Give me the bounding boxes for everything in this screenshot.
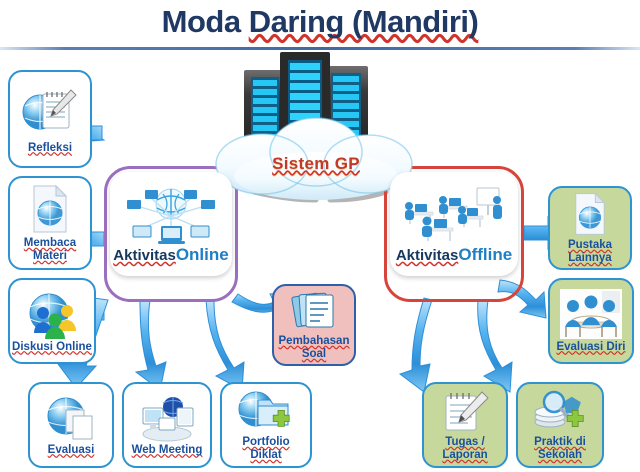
node-membaca-materi[interactable]: Membaca Materi [8,176,92,270]
page-title-squiggle: Daring (Mandiri) [249,4,479,39]
hub-online-label-primary: Aktivitas [113,247,176,264]
notepad-pencil-icon [440,388,490,434]
node-portfolio-diklat-label: Portfolio Diklat [242,436,289,462]
node-refleksi[interactable]: Refleksi [8,70,92,168]
node-evaluasi[interactable]: Evaluasi [28,382,114,468]
desk [422,217,453,242]
node-evaluasi-diri-label: Evaluasi Diri [556,341,625,354]
node-praktik-di-sekolah[interactable]: Praktik di Sekolah [516,382,604,468]
node-web-meeting[interactable]: Web Meeting [122,382,212,468]
hub-offline-label-primary: Aktivitas [396,247,459,264]
node-pustaka-lainnya[interactable]: Pustaka Lainnya [548,186,632,270]
diagram-canvas: Moda Daring (Mandiri) [0,0,640,472]
arrow-offline-to-praktik [478,300,512,392]
node-pustaka-lainnya-label: Pustaka Lainnya [568,239,612,265]
desk [458,206,483,227]
classroom-training-icon [401,184,507,246]
globe-notepad-pencil-icon [21,84,79,140]
page-title-plain: Moda [162,4,249,39]
hub-aktivitas-offline[interactable]: AktivitasOffline [390,172,518,276]
hub-offline-label-secondary: Offline [458,245,512,264]
page-title: Moda Daring (Mandiri) [0,2,640,42]
document-globe-icon [570,191,610,237]
node-pembahasan-soal-label: Pembahasan Soal [279,335,350,361]
network-laptops-globe-icon [123,184,219,246]
node-tugas-laporan-label: Tugas / Laporan [442,436,487,462]
node-portfolio-diklat[interactable]: Portfolio Diklat [220,382,312,468]
stacked-papers-icon [290,289,338,333]
arrow-online-to-webmeeting [136,300,166,390]
document-globe-icon [28,183,72,235]
node-diskusi-online[interactable]: Diskusi Online [8,278,96,364]
node-membaca-materi-label: Membaca Materi [24,237,76,263]
hub-online-label: AktivitasOnline [113,247,228,264]
node-pembahasan-soal[interactable]: Pembahasan Soal [272,284,356,366]
globe-documents-icon [44,394,98,442]
magnifier-coins-plus-icon [532,388,588,434]
hub-offline-label: AktivitasOffline [396,247,512,264]
node-tugas-laporan[interactable]: Tugas / Laporan [422,382,508,468]
sistem-gp-label: Sistem GP [196,154,436,174]
globe-people-group-icon [24,289,80,339]
globe-folder-plus-icon [236,388,296,434]
hub-online-label-secondary: Online [176,245,229,264]
node-diskusi-online-label: Diskusi Online [12,341,92,354]
monitor-globe-screens-icon [137,394,197,442]
arrow-offline-to-tugas [400,298,432,392]
people-meeting-table-icon [560,289,622,339]
node-praktik-di-sekolah-label: Praktik di Sekolah [534,436,586,462]
node-refleksi-label: Refleksi [28,142,72,155]
hub-aktivitas-online[interactable]: AktivitasOnline [110,172,232,276]
arrow-online-to-portfolio [206,300,244,390]
node-evaluasi-label: Evaluasi [48,444,95,457]
node-web-meeting-label: Web Meeting [132,444,203,457]
node-evaluasi-diri[interactable]: Evaluasi Diri [548,278,634,364]
